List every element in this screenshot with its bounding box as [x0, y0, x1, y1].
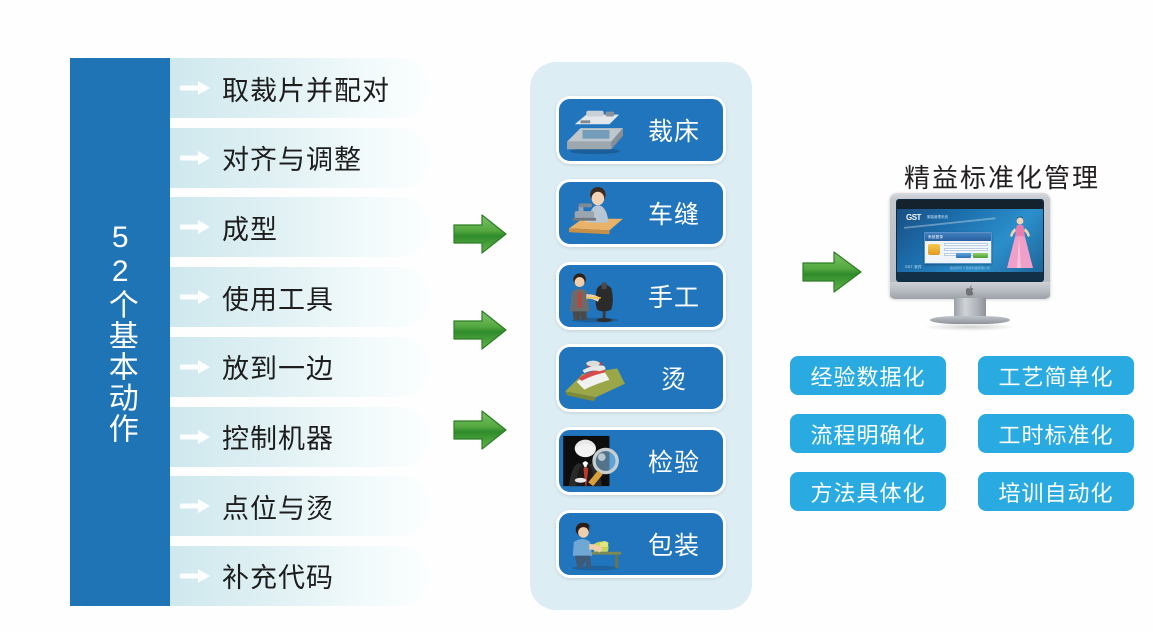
action-row-label: 放到一边: [222, 347, 334, 386]
screen-bottom-bezel: [897, 272, 1043, 281]
process-card[interactable]: 车缝: [556, 179, 726, 247]
cancel-button[interactable]: [973, 253, 988, 258]
sewing-worker-icon: [559, 182, 631, 244]
screen-top-bezel: [897, 200, 1043, 209]
benefit-tag[interactable]: 方法具体化: [790, 472, 946, 511]
benefit-tag[interactable]: 工艺简单化: [978, 356, 1134, 395]
process-card-label: 检验: [631, 443, 723, 479]
gst-logo: GST: [906, 213, 921, 222]
basic-actions-section: 52个基本动作 取裁片并配对 对齐与调整 成型: [70, 58, 430, 606]
packing-worker-icon: [559, 513, 631, 575]
benefit-tag[interactable]: 培训自动化: [978, 472, 1134, 511]
login-dialog-body: [925, 241, 991, 260]
monitor-shadow: [924, 323, 1016, 331]
action-row[interactable]: 使用工具: [170, 267, 430, 327]
imac-monitor: GST 服装管理系统 系统登录: [890, 193, 1050, 333]
login-dialog-title: 系统登录: [925, 233, 991, 241]
monitor-screen: GST 服装管理系统 系统登录: [896, 199, 1044, 282]
process-card[interactable]: 烫: [556, 344, 726, 412]
process-card[interactable]: 检验: [556, 427, 726, 495]
action-row-label: 点位与烫: [222, 487, 334, 526]
login-dialog-buttons: [956, 253, 988, 258]
basic-actions-bar-label: 52个基本动作: [102, 221, 137, 444]
monitor-chin: [890, 282, 1050, 299]
arrow-right-icon: [180, 498, 210, 514]
arrow-right-icon: [180, 568, 210, 584]
green-arrow-icon: [452, 408, 508, 452]
username-field[interactable]: [944, 243, 988, 246]
process-card-label: 裁床: [631, 112, 723, 148]
cutting-machine-icon: [559, 99, 631, 161]
benefit-tag[interactable]: 工时标准化: [978, 414, 1134, 453]
action-row[interactable]: 点位与烫: [170, 476, 430, 536]
login-button[interactable]: [956, 253, 971, 258]
green-arrow-icon: [452, 212, 508, 256]
process-panel: 裁床: [530, 62, 752, 610]
basic-actions-bar: 52个基本动作: [70, 58, 170, 606]
benefit-tag[interactable]: 流程明确化: [790, 414, 946, 453]
action-row[interactable]: 取裁片并配对: [170, 58, 430, 118]
process-card-list: 裁床: [556, 96, 726, 578]
diagram-canvas: 52个基本动作 取裁片并配对 对齐与调整 成型: [0, 0, 1153, 632]
tailor-mannequin-icon: [559, 265, 631, 327]
action-row-label: 成型: [222, 208, 278, 247]
iron-icon: [559, 347, 631, 409]
arrow-right-icon: [180, 359, 210, 375]
action-row[interactable]: 对齐与调整: [170, 128, 430, 188]
action-row-label: 取裁片并配对: [222, 69, 390, 108]
user-avatar-icon: [928, 244, 940, 255]
action-row-list: 取裁片并配对 对齐与调整 成型 使用工具: [170, 58, 430, 606]
arrow-right-icon: [180, 80, 210, 96]
action-row[interactable]: 放到一边: [170, 337, 430, 397]
action-row[interactable]: 控制机器: [170, 407, 430, 467]
password-field[interactable]: [944, 248, 988, 251]
arrow-right-icon: [180, 429, 210, 445]
arrow-right-icon: [180, 289, 210, 305]
process-card[interactable]: 包装: [556, 510, 726, 578]
process-card-label: 烫: [631, 360, 723, 396]
action-row[interactable]: 补充代码: [170, 546, 430, 606]
process-card[interactable]: 手工: [556, 262, 726, 330]
login-dialog[interactable]: 系统登录: [924, 232, 992, 264]
screen-footer-logo: GST 软件: [905, 265, 922, 270]
action-row-label: 控制机器: [222, 417, 334, 456]
action-row-label: 使用工具: [222, 278, 334, 317]
benefit-tag-grid: 经验数据化 工艺简单化 流程明确化 工时标准化 方法具体化 培训自动化: [790, 356, 1146, 511]
process-card-label: 手工: [631, 278, 723, 314]
benefit-tag[interactable]: 经验数据化: [790, 356, 946, 395]
gst-logo-subtitle: 服装管理系统: [927, 215, 948, 220]
screen-footer-copyright: 版权所有 © 软件科技有限公司: [950, 266, 990, 270]
green-arrow-icon: [452, 308, 508, 352]
action-row-label: 补充代码: [222, 556, 334, 595]
fashion-model-icon: [1005, 215, 1035, 271]
process-card[interactable]: 裁床: [556, 96, 726, 164]
arrow-right-icon: [180, 219, 210, 235]
inspector-magnifier-icon: [559, 430, 631, 492]
monitor-neck: [954, 298, 986, 318]
action-row[interactable]: 成型: [170, 197, 430, 257]
apple-logo-icon: [966, 285, 975, 296]
action-row-label: 对齐与调整: [222, 138, 362, 177]
process-card-label: 车缝: [631, 195, 723, 231]
arrow-right-icon: [180, 150, 210, 166]
process-card-label: 包装: [631, 526, 723, 562]
page-title: 精益标准化管理: [872, 158, 1132, 195]
